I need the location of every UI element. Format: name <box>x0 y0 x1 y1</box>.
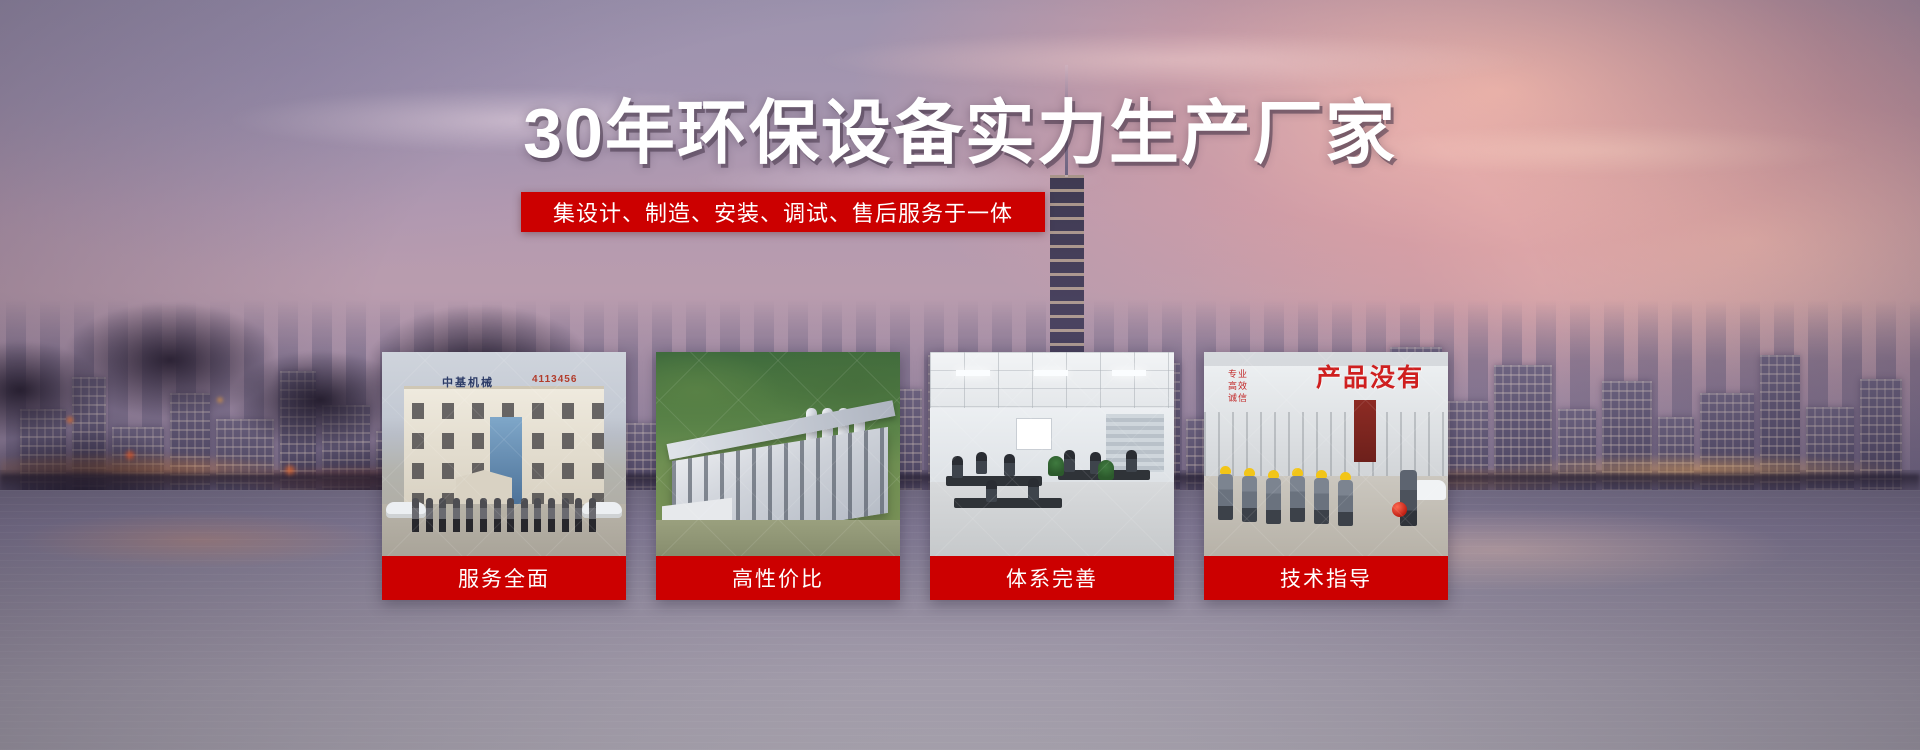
card-2-photo <box>656 352 900 556</box>
card-4-photo: 专业高效诚信 产品没有 <box>1204 352 1448 556</box>
subtitle-banner: 集设计、制造、安装、调试、售后服务于一体 <box>521 192 1045 232</box>
hero-banner: 30年环保设备实力生产厂家 集设计、制造、安装、调试、售后服务于一体 中基机械 … <box>0 0 1920 750</box>
card-4-slogan-small: 专业高效诚信 <box>1228 368 1248 404</box>
page-title: 30年环保设备实力生产厂家 <box>0 98 1920 168</box>
card-4-slogan: 产品没有 <box>1316 358 1424 394</box>
card-2-caption: 高性价比 <box>656 556 900 600</box>
card-3-photo <box>930 352 1174 556</box>
feature-card-list: 中基机械 4113456 服务全面 <box>382 352 1538 600</box>
card-1-caption: 服务全面 <box>382 556 626 600</box>
feature-card-3[interactable]: 体系完善 <box>930 352 1174 600</box>
card-1-photo: 中基机械 4113456 <box>382 352 626 556</box>
card-4-caption: 技术指导 <box>1204 556 1448 600</box>
feature-card-1[interactable]: 中基机械 4113456 服务全面 <box>382 352 626 600</box>
card-3-caption: 体系完善 <box>930 556 1174 600</box>
feature-card-4[interactable]: 专业高效诚信 产品没有 技术指导 <box>1204 352 1448 600</box>
card-1-building-sign: 中基机械 <box>442 374 494 390</box>
card-1-building-phone: 4113456 <box>532 374 577 385</box>
feature-card-2[interactable]: 高性价比 <box>656 352 900 600</box>
